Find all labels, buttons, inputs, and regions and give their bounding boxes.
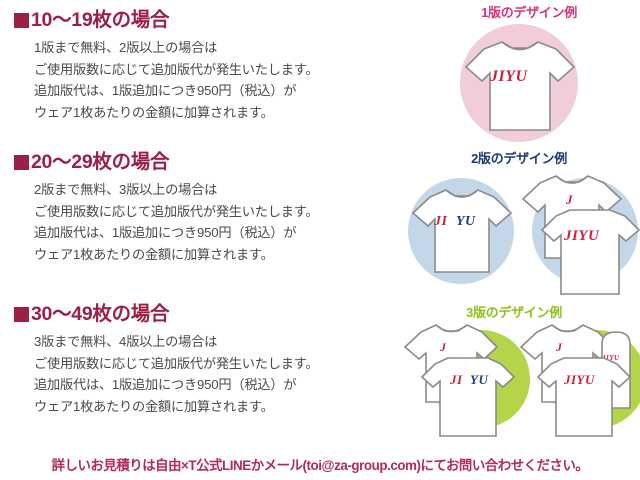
body-line: 1版まで無料、2版以上の場合は bbox=[34, 37, 410, 58]
print-yu-front: YU bbox=[456, 214, 476, 230]
print-j-back: J bbox=[556, 340, 563, 355]
pricing-section-30-49: 30〜49枚の場合 3版まで無料、4版以上の場合は ご使用版数に応じて追加版代が… bbox=[14, 304, 410, 417]
design-example-label: 2版のデザイン例 bbox=[398, 148, 640, 167]
body-line: 追加版代は、1版追加につき950円（税込）が bbox=[34, 80, 410, 101]
print-jiyu-front: JIYU bbox=[490, 68, 528, 86]
design-example-label: 3版のデザイン例 bbox=[388, 302, 640, 321]
body-line: ご使用版数に応じて追加版代が発生いたします。 bbox=[34, 59, 410, 80]
flyer-page: 10〜19枚の場合 1版まで無料、2版以上の場合は ご使用版数に応じて追加版代が… bbox=[0, 0, 640, 480]
tshirt-front bbox=[410, 184, 514, 276]
body-line: 2版まで無料、3版以上の場合は bbox=[34, 179, 410, 200]
body-line: 追加版代は、1版追加につき950円（税込）が bbox=[34, 374, 410, 395]
print-jiyu-front-overlay: JIYU bbox=[564, 228, 599, 245]
body-line: ウェア1枚あたりの金額に加算されます。 bbox=[34, 244, 410, 265]
pricing-section-10-19: 10〜19枚の場合 1版まで無料、2版以上の場合は ご使用版数に応じて追加版代が… bbox=[14, 10, 410, 123]
square-bullet-icon bbox=[14, 307, 29, 322]
section-heading: 20〜29枚の場合 bbox=[14, 152, 410, 173]
print-ji-front: JI bbox=[434, 214, 447, 230]
body-line: ご使用版数に応じて追加版代が発生いたします。 bbox=[34, 353, 410, 374]
footer-contact-note: 詳しいお見積りは自由×T公式LINEかメール(toi@za-group.com)… bbox=[0, 454, 640, 474]
design-example-1-plate: 1版のデザイン例 JIYU bbox=[418, 2, 640, 148]
section-body: 1版まで無料、2版以上の場合は ご使用版数に応じて追加版代が発生いたします。 追… bbox=[14, 37, 410, 123]
tshirt-front-overlay bbox=[536, 354, 634, 440]
body-line: ウェア1枚あたりの金額に加算されます。 bbox=[34, 102, 410, 123]
square-bullet-icon bbox=[14, 155, 29, 170]
print-ji-front-overlay: JI bbox=[450, 372, 463, 388]
section-body: 2版まで無料、3版以上の場合は ご使用版数に応じて追加版代が発生いたします。 追… bbox=[14, 179, 410, 265]
section-heading: 30〜49枚の場合 bbox=[14, 304, 410, 325]
section-heading-text: 30〜49枚の場合 bbox=[31, 304, 169, 325]
body-line: ウェア1枚あたりの金額に加算されます。 bbox=[34, 396, 410, 417]
section-heading-text: 10〜19枚の場合 bbox=[31, 10, 169, 31]
print-jiyu-front-overlay: JIYU bbox=[564, 372, 595, 388]
body-line: 追加版代は、1版追加につき950円（税込）が bbox=[34, 222, 410, 243]
tshirt-front-overlay bbox=[540, 206, 640, 298]
pricing-section-20-29: 20〜29枚の場合 2版まで無料、3版以上の場合は ご使用版数に応じて追加版代が… bbox=[14, 152, 410, 265]
tshirt-front-overlay bbox=[420, 354, 518, 440]
body-line: 3版まで無料、4版以上の場合は bbox=[34, 331, 410, 352]
print-j-back: J bbox=[440, 340, 447, 355]
design-example-3-plate: 3版のデザイン例 J JI YU J bbox=[388, 302, 640, 440]
section-heading-text: 20〜29枚の場合 bbox=[31, 152, 169, 173]
section-heading: 10〜19枚の場合 bbox=[14, 10, 410, 31]
square-bullet-icon bbox=[14, 13, 29, 28]
body-line: ご使用版数に応じて追加版代が発生いたします。 bbox=[34, 201, 410, 222]
design-example-2-plate: 2版のデザイン例 JI YU J JIYU bbox=[398, 148, 640, 300]
design-example-label: 1版のデザイン例 bbox=[418, 2, 640, 21]
section-body: 3版まで無料、4版以上の場合は ご使用版数に応じて追加版代が発生いたします。 追… bbox=[14, 331, 410, 417]
print-yu-front-overlay: YU bbox=[470, 372, 488, 388]
pricing-text-column: 10〜19枚の場合 1版まで無料、2版以上の場合は ご使用版数に応じて追加版代が… bbox=[0, 0, 410, 440]
